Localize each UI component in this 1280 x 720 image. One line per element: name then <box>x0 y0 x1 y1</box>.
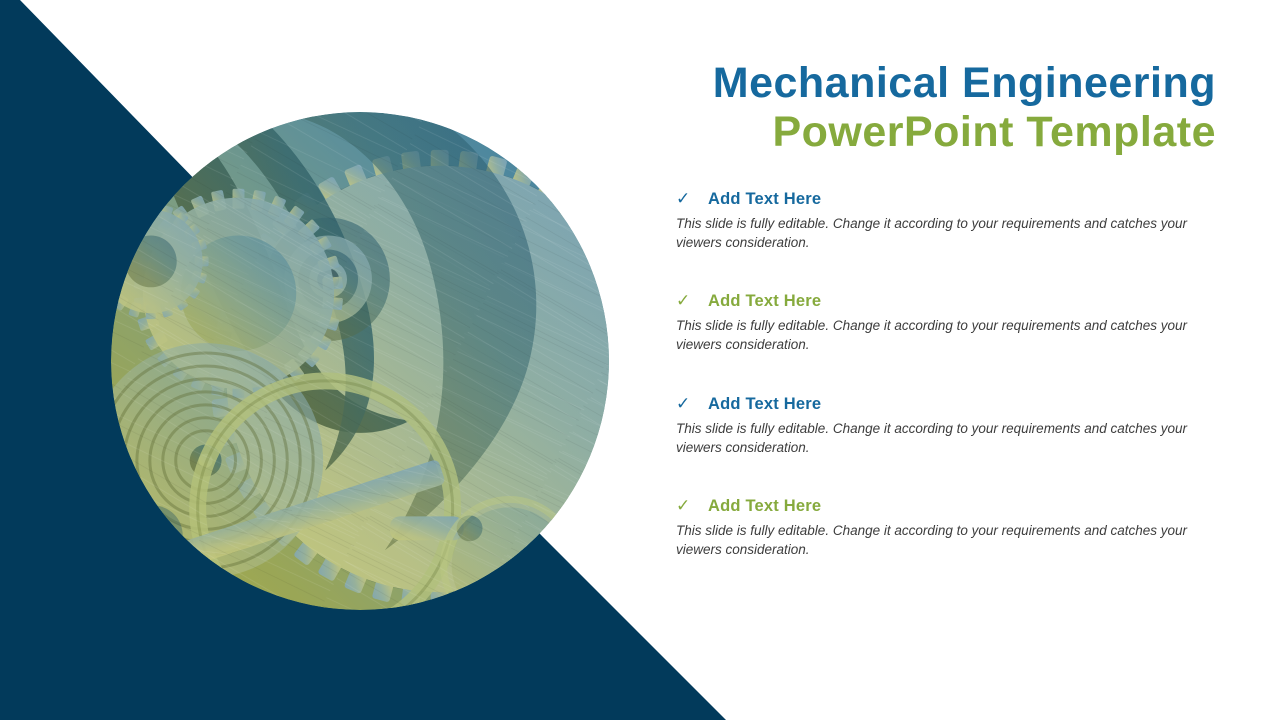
bullet-title: Add Text Here <box>708 292 821 311</box>
bullet-list: ✓ Add Text Here This slide is fully edit… <box>676 190 1216 559</box>
bullet-body: This slide is fully editable. Change it … <box>676 316 1188 354</box>
title-line-primary: Mechanical Engineering <box>676 62 1216 105</box>
list-item[interactable]: ✓ Add Text Here This slide is fully edit… <box>676 292 1216 354</box>
bullet-heading-row: ✓ Add Text Here <box>676 395 1216 414</box>
bullet-title: Add Text Here <box>708 497 821 516</box>
content-column: Mechanical Engineering PowerPoint Templa… <box>676 62 1216 559</box>
check-icon: ✓ <box>676 190 698 207</box>
check-icon: ✓ <box>676 395 698 412</box>
check-icon: ✓ <box>676 497 698 514</box>
title-line-secondary: PowerPoint Template <box>676 111 1216 154</box>
bullet-body: This slide is fully editable. Change it … <box>676 521 1188 559</box>
bullet-body: This slide is fully editable. Change it … <box>676 419 1188 457</box>
bullet-title: Add Text Here <box>708 190 821 209</box>
bullet-title: Add Text Here <box>708 395 821 414</box>
check-icon: ✓ <box>676 292 698 309</box>
slide-canvas: Mechanical Engineering PowerPoint Templa… <box>0 0 1280 720</box>
gear-photo-circle <box>111 112 609 610</box>
list-item[interactable]: ✓ Add Text Here This slide is fully edit… <box>676 395 1216 457</box>
bullet-heading-row: ✓ Add Text Here <box>676 292 1216 311</box>
gear-illustration <box>111 112 609 610</box>
list-item[interactable]: ✓ Add Text Here This slide is fully edit… <box>676 190 1216 252</box>
list-item[interactable]: ✓ Add Text Here This slide is fully edit… <box>676 497 1216 559</box>
bullet-heading-row: ✓ Add Text Here <box>676 497 1216 516</box>
bullet-heading-row: ✓ Add Text Here <box>676 190 1216 209</box>
page-title: Mechanical Engineering PowerPoint Templa… <box>676 62 1216 154</box>
bullet-body: This slide is fully editable. Change it … <box>676 214 1188 252</box>
